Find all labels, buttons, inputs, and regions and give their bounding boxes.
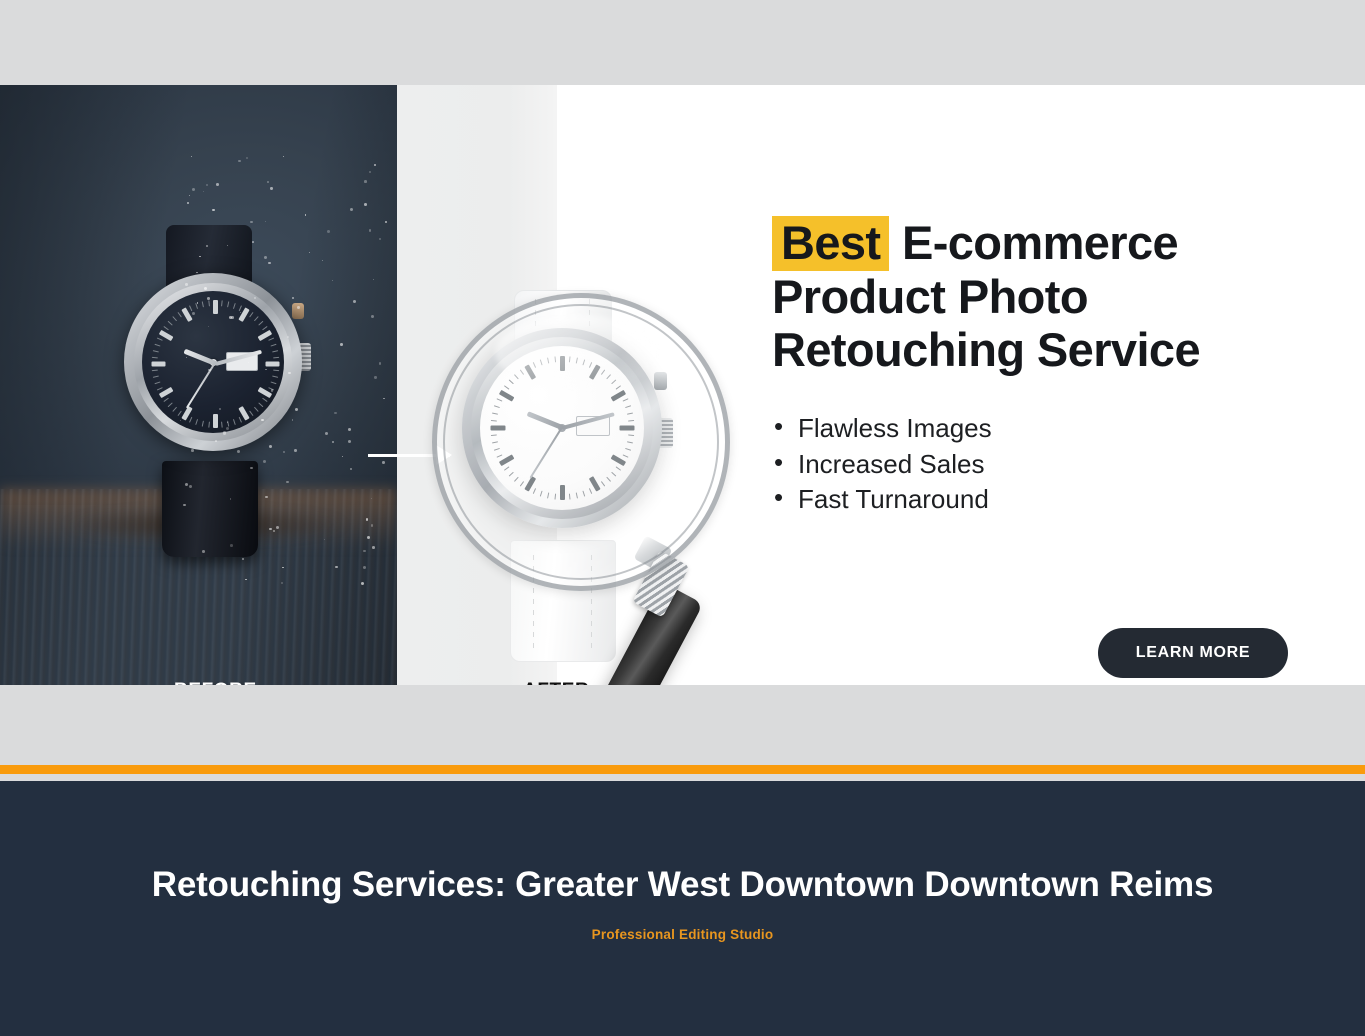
watch-case <box>124 273 302 451</box>
list-item: Flawless Images <box>772 411 1312 447</box>
page-title: Best E-commerce Product Photo Retouching… <box>772 216 1312 377</box>
before-label: BEFORE <box>174 680 257 685</box>
before-image-panel <box>0 85 397 685</box>
headline-line1-rest: E-commerce <box>889 216 1178 269</box>
before-watch <box>110 225 310 555</box>
headline-line3: Retouching Service <box>772 323 1200 376</box>
benefits-list: Flawless Images Increased Sales Fast Tur… <box>772 411 1312 519</box>
learn-more-button[interactable]: LEARN MORE <box>1098 628 1288 678</box>
list-item: Fast Turnaround <box>772 482 1312 518</box>
footer-title: Retouching Services: Greater West Downto… <box>0 865 1365 905</box>
after-label: AFTER <box>523 680 589 685</box>
hero-banner: BEFORE AFTER Best E-commerce Product Pho… <box>0 85 1365 685</box>
footer-subtitle: Professional Editing Studio <box>0 927 1365 942</box>
watch-strap-bottom <box>162 461 258 557</box>
accent-divider <box>0 765 1365 774</box>
banner-copy: Best E-commerce Product Photo Retouching… <box>772 216 1312 518</box>
list-item: Increased Sales <box>772 447 1312 483</box>
watch-bezel <box>134 283 292 441</box>
headline-highlight: Best <box>772 216 889 271</box>
magnifier-glare <box>495 315 662 390</box>
magnifying-glass-icon <box>432 293 762 685</box>
footer-bar: Retouching Services: Greater West Downto… <box>0 781 1365 1036</box>
watch-pusher <box>292 303 304 319</box>
watch-dial <box>142 291 284 433</box>
magnifier-lens <box>432 293 730 591</box>
headline-line2: Product Photo <box>772 270 1088 323</box>
